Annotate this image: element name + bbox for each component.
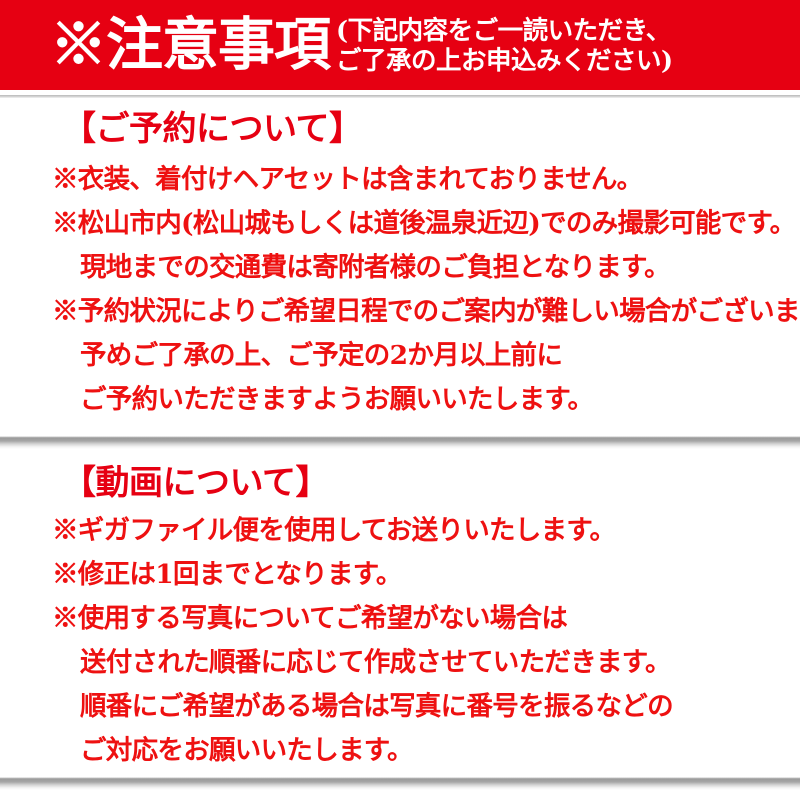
divider-bottom xyxy=(0,777,800,790)
video-line-5: 順番にご希望がある場合は写真に番号を振るなどの xyxy=(80,694,673,721)
video-line-2: ※修正は1回までとなります。 xyxy=(52,562,402,589)
banner-subtitle-line-2: ご了承の上お申込みください) xyxy=(336,46,673,76)
reservation-line-6: ご予約いただきますようお願いいたします。 xyxy=(80,387,593,414)
section-heading-reservation: 【ご予約について】 xyxy=(62,112,362,146)
reservation-line-4: ※予約状況によりご希望日程でのご案内が難しい場合がございます。 xyxy=(52,299,800,326)
banner-title: ※注意事項 xyxy=(50,16,330,73)
reservation-line-2: ※松山市内(松山城もしくは道後温泉近辺)でのみ撮影可能です。 xyxy=(52,211,795,238)
banner-subtitle: (下記内容をご一読いただき、 ご了承の上お申込みください) xyxy=(336,16,673,76)
banner-subtitle-line-1: (下記内容をご一読いただき、 xyxy=(336,16,673,46)
video-line-6: ご対応をお願いいたします。 xyxy=(80,738,413,765)
notice-banner: ※注意事項 (下記内容をご一読いただき、 ご了承の上お申込みください) xyxy=(0,0,800,90)
reservation-line-3: 現地までの交通費は寄附者様のご負担となります。 xyxy=(80,255,670,282)
section-heading-video: 【動画について】 xyxy=(62,466,329,500)
notice-page: ※注意事項 (下記内容をご一読いただき、 ご了承の上お申込みください) 【ご予約… xyxy=(0,0,800,800)
video-line-4: 送付された順番に応じて作成させていただきます。 xyxy=(80,650,671,677)
video-line-3: ※使用する写真についてご希望がない場合は xyxy=(52,606,567,633)
reservation-line-1: ※衣装、着付けヘアセットは含まれておりません。 xyxy=(52,167,643,194)
divider-under-banner xyxy=(0,95,800,98)
divider-between-sections xyxy=(0,436,800,449)
video-line-1: ※ギガファイル便を使用してお送りいたします。 xyxy=(52,518,615,545)
reservation-line-5: 予めご了承の上、ご予定の2か月以上前に xyxy=(80,343,562,370)
